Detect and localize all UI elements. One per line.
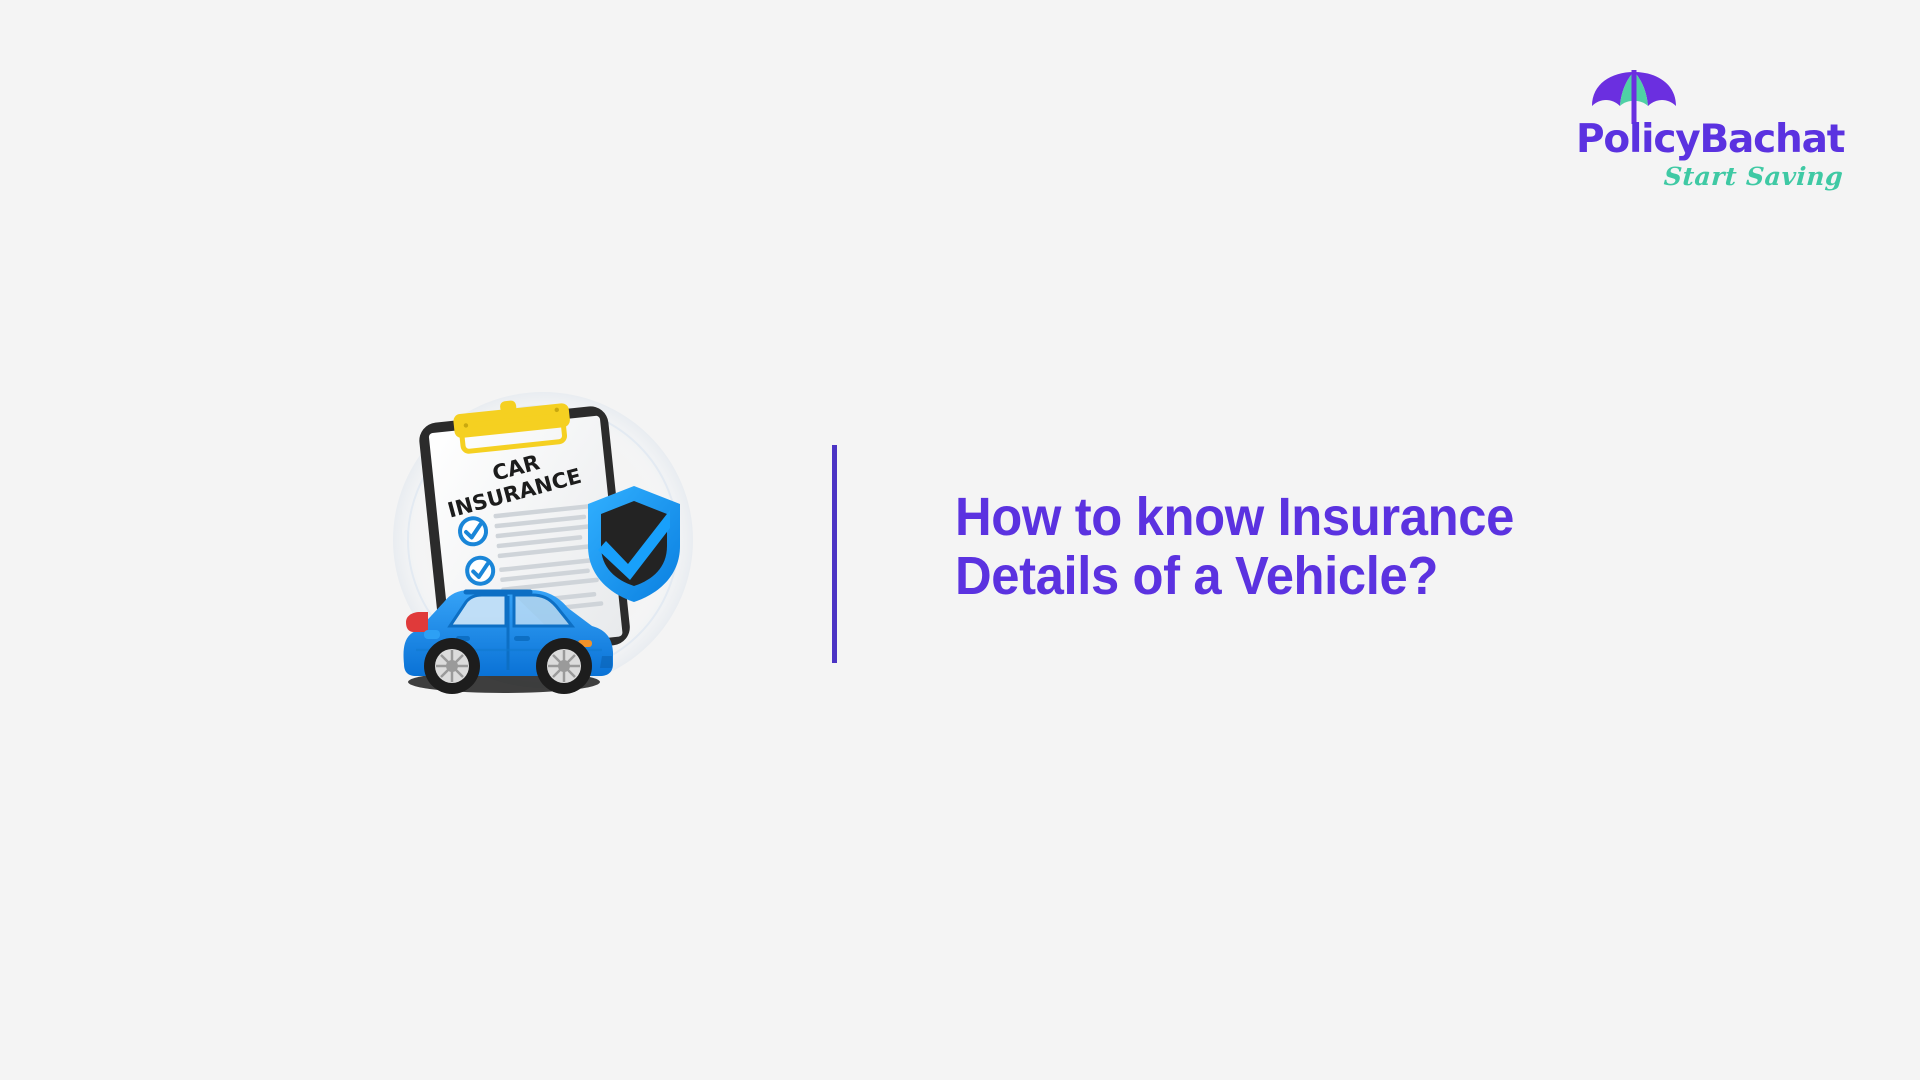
page-title: How to know Insurance Details of a Vehic… — [955, 488, 1715, 607]
vertical-divider — [832, 445, 837, 663]
brand-tagline: Start Saving — [1663, 162, 1844, 191]
brand-wordmark: PolicyBachat — [1576, 120, 1808, 159]
brand-logo[interactable]: PolicyBachat Start Saving — [1576, 68, 1808, 178]
car-wheel-rear — [424, 638, 480, 694]
page-title-line-1: How to know Insurance — [955, 488, 1669, 547]
car-insurance-illustration: CAR INSURANCE — [378, 372, 708, 702]
check-icon — [466, 556, 495, 585]
page-title-line-2: Details of a Vehicle? — [955, 547, 1669, 606]
page-root: PolicyBachat Start Saving — [0, 0, 1920, 1080]
car-wheel-front — [536, 638, 592, 694]
check-icon — [459, 517, 488, 546]
